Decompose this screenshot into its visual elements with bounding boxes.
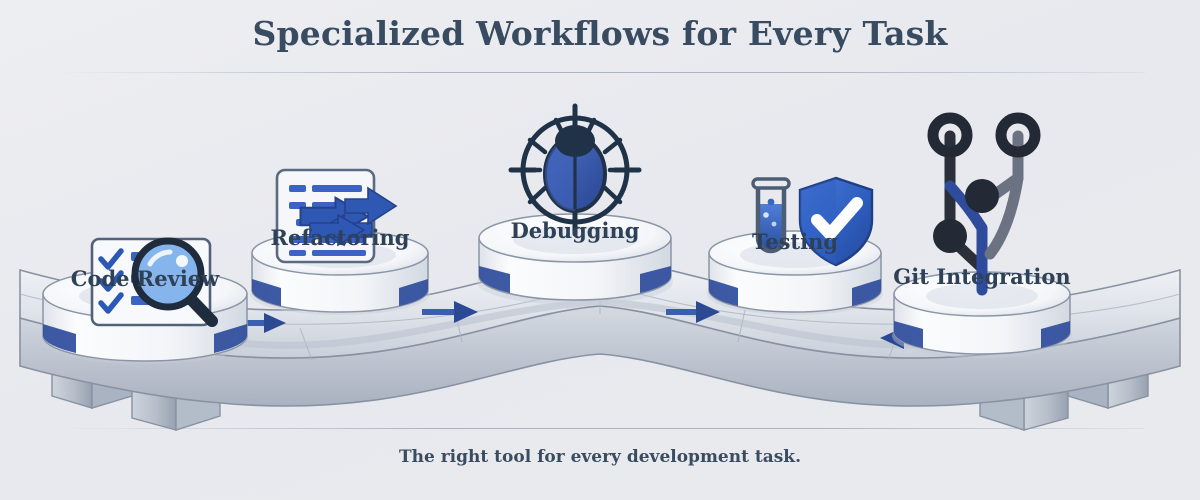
station-label-testing: Testing [752,229,838,254]
station-code-review[interactable]: Code Review [41,239,249,364]
header-divider [55,72,1145,73]
illustration-canvas: Specialized Workflows for Every Task [0,0,1200,500]
bug-target-icon [511,106,639,234]
station-label-debugging: Debugging [511,218,640,243]
station-testing[interactable]: Testing [707,178,883,315]
diagram-canvas: Code Review [0,78,1200,423]
station-label-refactoring: Refactoring [271,225,410,250]
station-label-code-review: Code Review [71,266,220,291]
footer-divider [55,428,1145,429]
station-git-integration[interactable]: Git Integration [892,118,1072,358]
footer-caption: The right tool for every development tas… [0,447,1200,467]
workflow-diagram: Code Review [0,78,1200,423]
page-title: Specialized Workflows for Every Task [0,14,1200,53]
station-debugging[interactable]: Debugging [477,106,673,305]
station-label-git-integration: Git Integration [893,264,1070,289]
station-refactoring[interactable]: Refactoring [250,170,430,315]
